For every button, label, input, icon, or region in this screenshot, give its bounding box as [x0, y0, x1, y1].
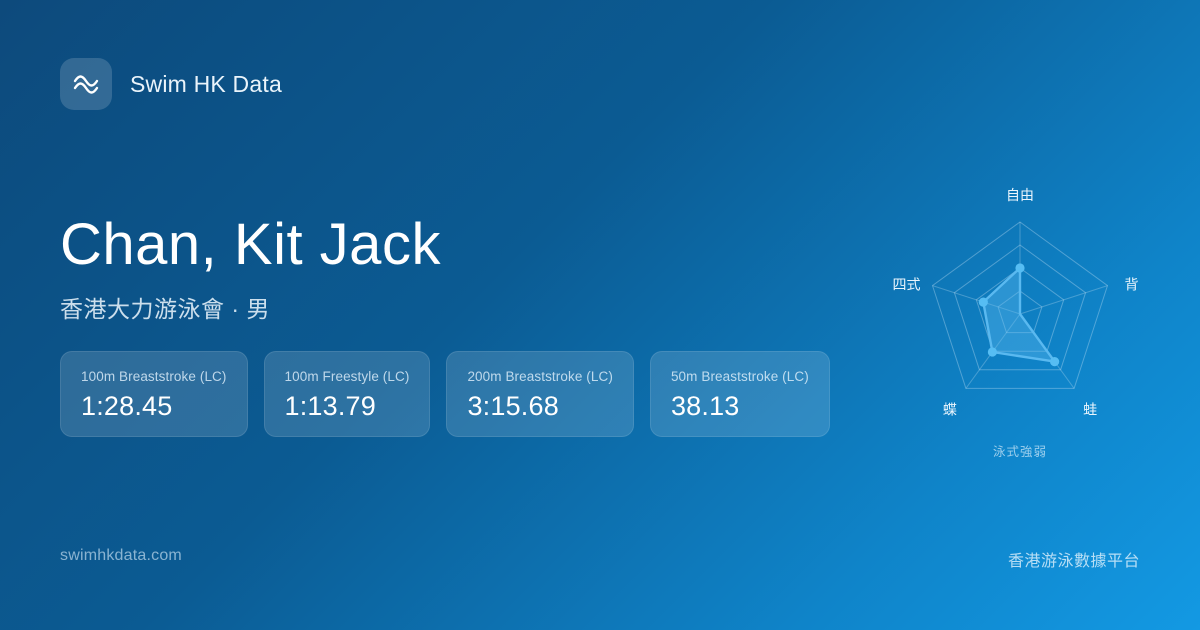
radar-point [1050, 357, 1059, 366]
stat-card[interactable]: 100m Freestyle (LC) 1:13.79 [264, 351, 431, 437]
wave-icon [72, 73, 100, 95]
page-title: Chan, Kit Jack [60, 215, 441, 276]
radar-spoke [1020, 286, 1108, 314]
radar-point [988, 347, 997, 356]
radar-point [1015, 263, 1024, 272]
radar-caption: 泳式強弱 [868, 441, 1172, 460]
stroke-strength-radar-chart: 自由背蛙蝶四式 泳式強弱 [868, 168, 1172, 478]
stat-time-value: 38.13 [671, 393, 809, 420]
stat-event-label: 50m Breaststroke (LC) [671, 369, 809, 384]
radar-axis-label: 背 [1125, 277, 1139, 293]
radar-svg: 自由背蛙蝶四式 [868, 168, 1172, 448]
radar-axis-label: 自由 [1006, 187, 1034, 203]
stat-time-value: 1:13.79 [285, 393, 410, 420]
athlete-meta: 香港大力游泳會 · 男 [60, 290, 441, 324]
stat-event-label: 100m Freestyle (LC) [285, 369, 410, 384]
radar-axis-label: 四式 [893, 277, 921, 293]
stat-time-value: 3:15.68 [467, 393, 613, 420]
radar-point [979, 298, 988, 307]
radar-data-area [983, 268, 1054, 362]
stat-event-label: 200m Breaststroke (LC) [467, 369, 613, 384]
brand-header[interactable]: Swim HK Data [60, 58, 282, 110]
stat-card[interactable]: 50m Breaststroke (LC) 38.13 [650, 351, 830, 437]
stat-event-label: 100m Breaststroke (LC) [81, 369, 227, 384]
app-logo [60, 58, 112, 110]
stat-card-list: 100m Breaststroke (LC) 1:28.45 100m Free… [60, 351, 830, 437]
athlete-hero: Chan, Kit Jack 香港大力游泳會 · 男 [60, 215, 441, 324]
footer-site-url[interactable]: swimhkdata.com [60, 547, 182, 565]
radar-axis-label: 蛙 [1083, 401, 1097, 417]
radar-axis-label: 蝶 [943, 401, 957, 417]
stat-time-value: 1:28.45 [81, 393, 227, 420]
footer-tagline: 香港游泳數據平台 [1008, 547, 1140, 571]
brand-name: Swim HK Data [130, 71, 282, 98]
stat-card[interactable]: 100m Breaststroke (LC) 1:28.45 [60, 351, 248, 437]
stat-card[interactable]: 200m Breaststroke (LC) 3:15.68 [446, 351, 634, 437]
